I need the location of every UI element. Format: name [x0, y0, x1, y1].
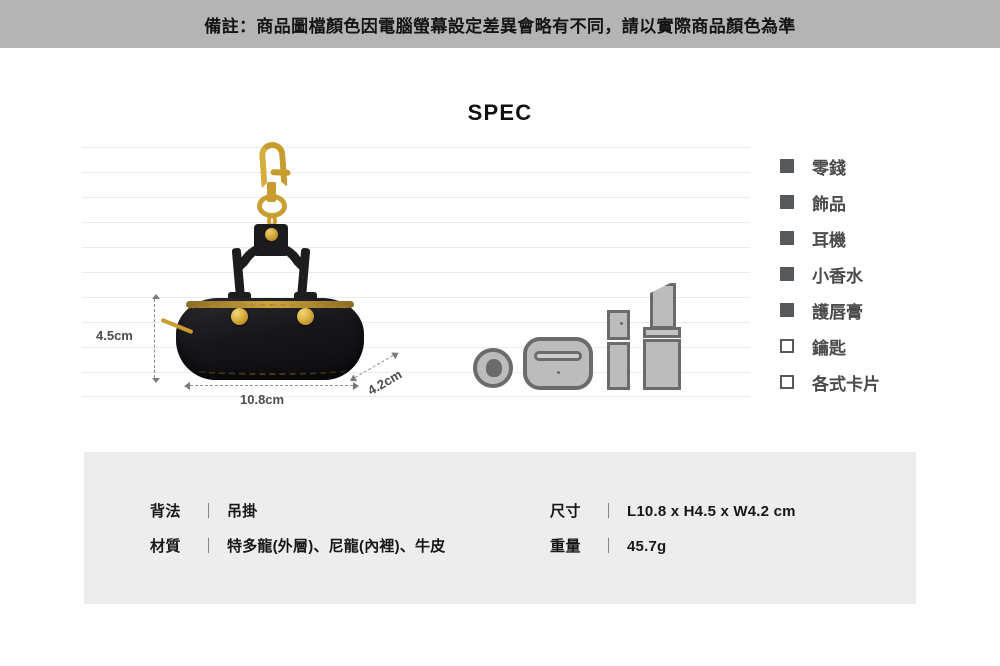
swivel-clasp-icon: [248, 142, 296, 220]
bag-stud-left: [231, 308, 248, 325]
legend-item-label: 護唇膏: [812, 298, 863, 323]
legend-swatch-filled-icon: [780, 159, 794, 173]
spec-separator: ｜: [601, 500, 616, 521]
spec-separator: ｜: [201, 500, 216, 521]
legend-swatch-outline-icon: [780, 339, 794, 353]
spec-value: L10.8 x H4.5 x W4.2 cm: [627, 503, 796, 520]
width-dimension-line: [190, 385, 353, 386]
spec-separator: ｜: [201, 535, 216, 556]
width-dimension-label: 10.8cm: [240, 392, 284, 407]
spec-table: 背法 ｜ 吊掛 尺寸 ｜ L10.8 x H4.5 x W4.2 cm 材質 ｜…: [150, 500, 910, 556]
spec-key: 重量: [550, 535, 590, 556]
legend-swatch-outline-icon: [780, 375, 794, 389]
comparison-objects: [465, 140, 685, 390]
capacity-legend: 零錢 飾品 耳機 小香水 護唇膏 鑰匙 各式卡片: [780, 148, 980, 400]
legend-swatch-filled-icon: [780, 267, 794, 281]
bag-bottom-stitching: [192, 365, 348, 375]
legend-item-label: 耳機: [812, 226, 846, 251]
legend-swatch-filled-icon: [780, 303, 794, 317]
legend-item-label: 飾品: [812, 190, 846, 215]
legend-item: 小香水: [780, 256, 980, 292]
height-dimension-label: 4.5cm: [96, 328, 133, 343]
earphone-case-icon: [523, 337, 593, 390]
spec-value: 吊掛: [227, 500, 257, 521]
height-dimension-line: [154, 299, 155, 378]
spec-row: 尺寸 ｜ L10.8 x H4.5 x W4.2 cm: [550, 500, 910, 521]
legend-item-label: 各式卡片: [812, 370, 880, 395]
spec-details-panel: 背法 ｜ 吊掛 尺寸 ｜ L10.8 x H4.5 x W4.2 cm 材質 ｜…: [84, 452, 916, 604]
spec-heading: SPEC: [0, 100, 1000, 126]
spec-row: 背法 ｜ 吊掛: [150, 500, 550, 521]
bag-top-stud: [265, 228, 278, 241]
notice-banner: 備註：商品圖檔顏色因電腦螢幕設定差異會略有不同，請以實際商品顏色為準: [0, 0, 1000, 48]
legend-item-label: 零錢: [812, 154, 846, 179]
perfume-tube-icon: [607, 310, 630, 390]
legend-item-label: 小香水: [812, 262, 863, 287]
coin-icon: [473, 348, 513, 388]
spec-row: 重量 ｜ 45.7g: [550, 535, 910, 556]
spec-value: 45.7g: [627, 538, 666, 555]
spec-key: 材質: [150, 535, 190, 556]
bag-body: [176, 298, 364, 380]
legend-item: 鑰匙: [780, 328, 980, 364]
spec-row: 材質 ｜ 特多龍(外層)、尼龍(內裡)、牛皮: [150, 535, 550, 556]
product-spec-page: 備註：商品圖檔顏色因電腦螢幕設定差異會略有不同，請以實際商品顏色為準 SPEC: [0, 0, 1000, 666]
notice-text: 備註：商品圖檔顏色因電腦螢幕設定差異會略有不同，請以實際商品顏色為準: [204, 12, 796, 37]
spec-value: 特多龍(外層)、尼龍(內裡)、牛皮: [227, 535, 445, 556]
legend-item: 零錢: [780, 148, 980, 184]
product-bag-photo: [170, 140, 375, 390]
legend-item: 護唇膏: [780, 292, 980, 328]
spec-key: 背法: [150, 500, 190, 521]
legend-swatch-filled-icon: [780, 231, 794, 245]
legend-item-label: 鑰匙: [812, 334, 846, 359]
spec-separator: ｜: [601, 535, 616, 556]
bag-top-stitching: [190, 304, 350, 314]
legend-swatch-filled-icon: [780, 195, 794, 209]
legend-item: 各式卡片: [780, 364, 980, 400]
spec-key: 尺寸: [550, 500, 590, 521]
lipstick-icon: [643, 283, 681, 390]
bag-stud-right: [297, 308, 314, 325]
legend-item: 耳機: [780, 220, 980, 256]
legend-item: 飾品: [780, 184, 980, 220]
